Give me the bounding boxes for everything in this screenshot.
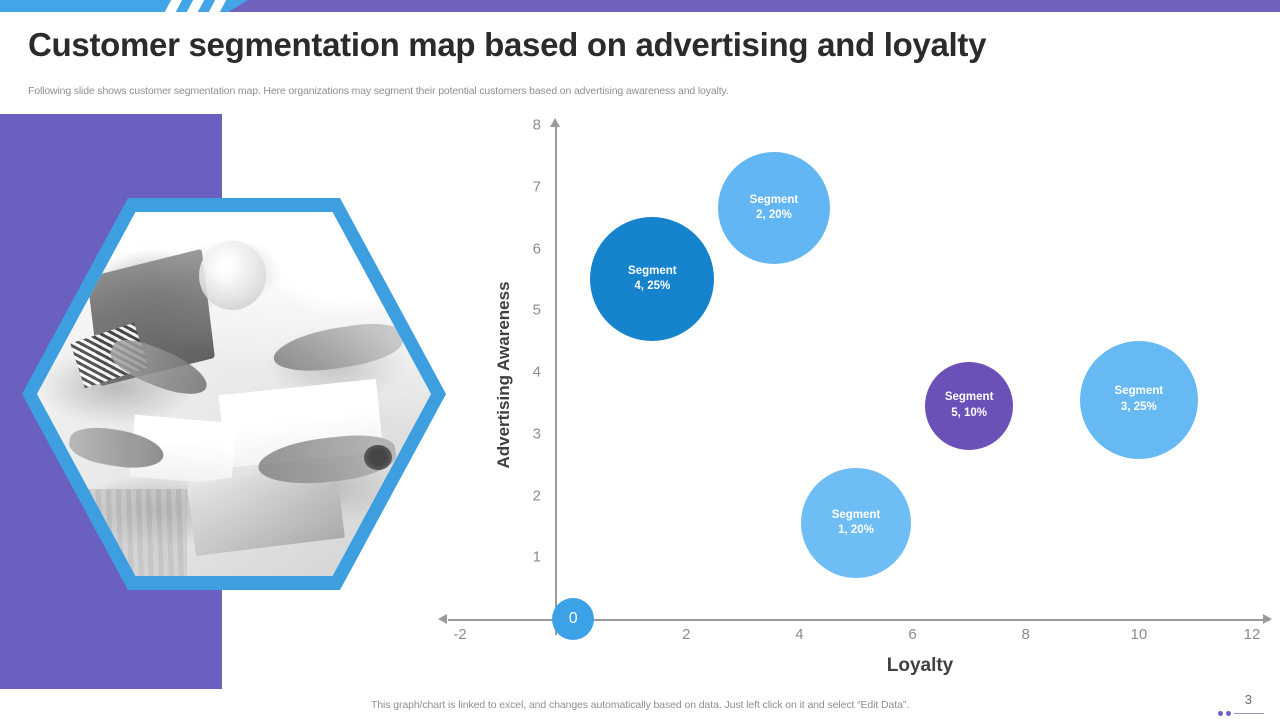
x-axis-arrow-left-icon (438, 614, 447, 624)
x-axis-tick-label: 4 (779, 626, 819, 643)
y-axis-tick-label: 4 (507, 364, 541, 381)
x-axis-tick-label: 10 (1119, 626, 1159, 643)
x-axis-tick-label: 12 (1232, 626, 1272, 643)
y-axis-line (555, 125, 557, 635)
y-axis-tick-label: 6 (507, 240, 541, 257)
y-axis-tick-label: 5 (507, 302, 541, 319)
chart-origin-marker[interactable]: 0 (552, 598, 594, 640)
bubble-chart: Advertising Awareness Loyalty 12345678 -… (430, 110, 1270, 670)
chart-bubble[interactable]: Segment 3, 25% (1080, 341, 1198, 459)
x-axis-arrow-right-icon (1263, 614, 1272, 624)
x-axis-title: Loyalty (820, 655, 1020, 677)
page-number-decoration (1218, 710, 1264, 718)
x-axis-tick-label: 2 (666, 626, 706, 643)
y-axis-tick-label: 8 (507, 117, 541, 134)
chart-bubble[interactable]: Segment 4, 25% (590, 217, 714, 341)
y-axis-tick-label: 3 (507, 425, 541, 442)
y-axis-tick-label: 1 (507, 549, 541, 566)
slide-root: Customer segmentation map based on adver… (0, 0, 1280, 720)
x-axis-tick-label: 6 (893, 626, 933, 643)
page-number: 3 (1245, 692, 1252, 707)
chart-source-note: This graph/chart is linked to excel, and… (0, 699, 1280, 711)
y-axis-tick-label: 7 (507, 178, 541, 195)
page-title: Customer segmentation map based on adver… (28, 26, 1228, 64)
chart-bubble[interactable]: Segment 5, 10% (925, 362, 1013, 450)
page-subtitle: Following slide shows customer segmentat… (28, 85, 1208, 97)
chart-bubble[interactable]: Segment 1, 20% (801, 468, 911, 578)
y-axis-arrow-icon (550, 118, 560, 127)
x-axis-tick-label: 8 (1006, 626, 1046, 643)
chart-bubble[interactable]: Segment 2, 20% (718, 152, 830, 264)
y-axis-tick-label: 2 (507, 487, 541, 504)
hexagon-image-frame (22, 198, 446, 590)
x-axis-tick-label: -2 (440, 626, 480, 643)
dot-icon (1218, 711, 1223, 716)
divider-line (1234, 713, 1264, 714)
dot-icon (1226, 711, 1231, 716)
top-decorative-bar (0, 0, 1280, 12)
